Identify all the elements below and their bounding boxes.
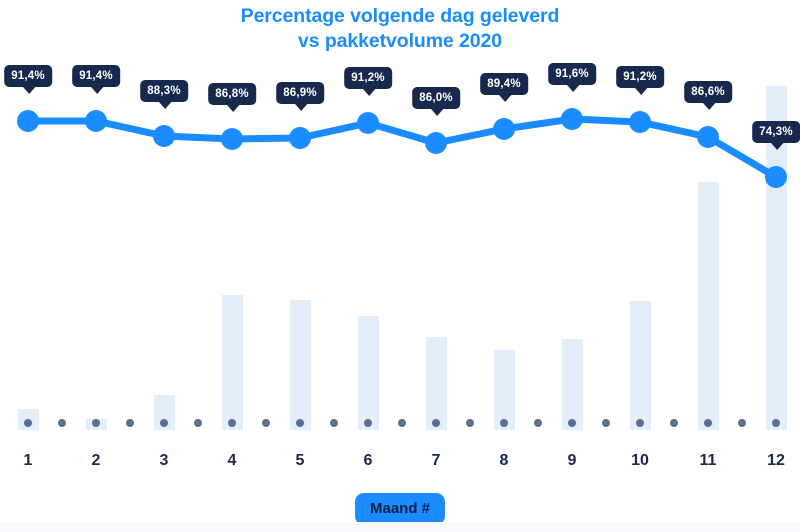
line-point[interactable]: [765, 166, 787, 188]
x-axis-label-badge: Maand #: [355, 493, 445, 525]
x-axis-tick-6: 6: [364, 452, 373, 470]
x-axis-tick-2: 2: [92, 452, 101, 470]
line-point[interactable]: [85, 110, 107, 132]
x-axis-tick-9: 9: [568, 452, 577, 470]
x-axis-tick-8: 8: [500, 452, 509, 470]
x-axis-ticks: 123456789101112: [0, 452, 800, 482]
data-label-tooltip: 91,6%: [548, 63, 596, 85]
line-point[interactable]: [561, 108, 583, 130]
data-label-tooltip: 86,6%: [684, 81, 732, 103]
chart-title-line-1: Percentage volgende dag geleverd: [241, 5, 560, 27]
chart-title: Percentage volgende dag geleverd vs pakk…: [0, 4, 800, 54]
x-axis-tick-10: 10: [631, 452, 649, 470]
line-path: [28, 119, 776, 177]
line-point[interactable]: [493, 118, 515, 140]
chart-title-line-2: vs pakketvolume 2020: [0, 29, 800, 54]
data-label-tooltip: 74,3%: [752, 121, 800, 143]
x-axis-tick-1: 1: [24, 452, 33, 470]
data-label-tooltip: 91,4%: [4, 65, 52, 87]
line-point[interactable]: [357, 112, 379, 134]
line-series-percentage: [0, 55, 800, 430]
data-label-tooltip: 88,3%: [140, 80, 188, 102]
x-axis-tick-5: 5: [296, 452, 305, 470]
line-point[interactable]: [425, 132, 447, 154]
data-label-tooltip: 91,4%: [72, 65, 120, 87]
line-point-markers: [17, 108, 787, 188]
data-label-tooltip: 91,2%: [344, 67, 392, 89]
line-point[interactable]: [289, 127, 311, 149]
line-point[interactable]: [153, 125, 175, 147]
x-axis-tick-3: 3: [160, 452, 169, 470]
x-axis-tick-11: 11: [700, 452, 717, 470]
chart-container: Percentage volgende dag geleverd vs pakk…: [0, 0, 800, 532]
data-label-tooltip: 86,0%: [412, 87, 460, 109]
bottom-strip: [0, 522, 800, 532]
line-point[interactable]: [221, 128, 243, 150]
data-label-tooltip: 89,4%: [480, 73, 528, 95]
line-point[interactable]: [629, 111, 651, 133]
plot-area: 91,4%91,4%88,3%86,8%86,9%91,2%86,0%89,4%…: [0, 55, 800, 430]
line-point[interactable]: [17, 110, 39, 132]
x-axis-tick-7: 7: [432, 452, 441, 470]
line-point[interactable]: [697, 126, 719, 148]
data-label-tooltip: 91,2%: [616, 66, 664, 88]
x-axis-tick-12: 12: [767, 452, 785, 470]
data-label-tooltip: 86,9%: [276, 82, 324, 104]
data-label-tooltip: 86,8%: [208, 83, 256, 105]
x-axis-tick-4: 4: [228, 452, 237, 470]
